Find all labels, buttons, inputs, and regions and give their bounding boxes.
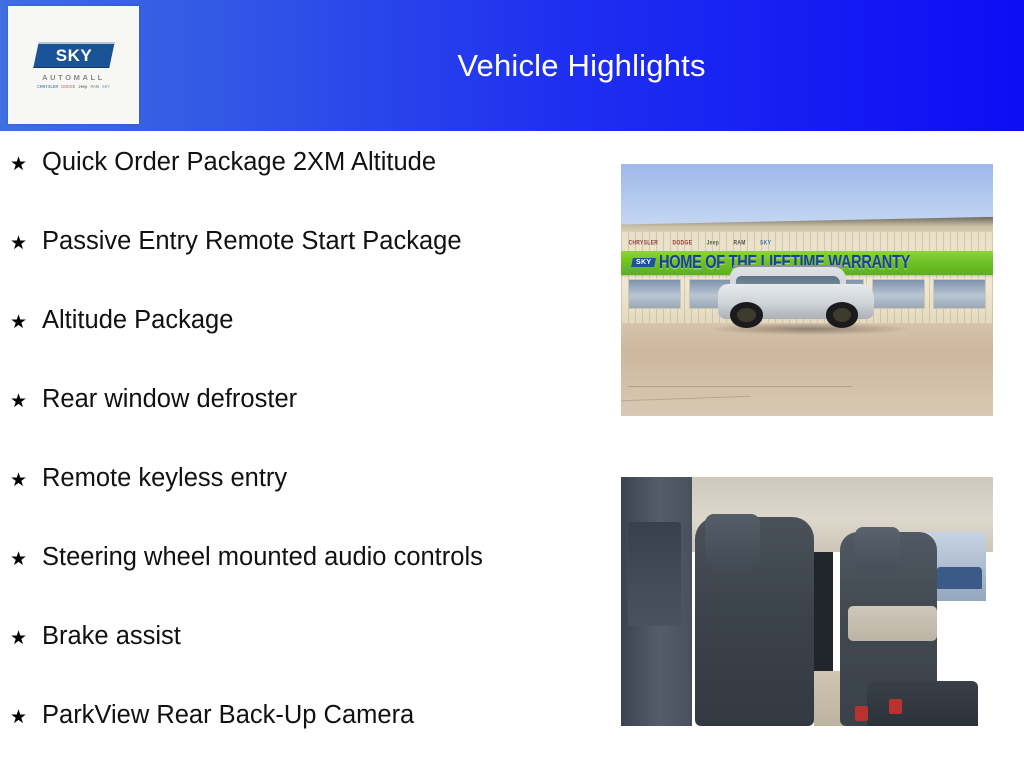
- list-item: ★ Quick Order Package 2XM Altitude: [10, 150, 610, 229]
- list-item: ★ Steering wheel mounted audio controls: [10, 545, 610, 624]
- star-icon: ★: [10, 392, 42, 411]
- seat-gap: [814, 552, 833, 681]
- window-pane: [628, 279, 681, 309]
- feature-label: Remote keyless entry: [42, 466, 287, 492]
- passenger-headrest: [855, 527, 900, 572]
- facade-brand-jeep: Jeep: [707, 239, 720, 247]
- vehicle-side-profile: [718, 267, 874, 327]
- star-icon: ★: [10, 629, 42, 648]
- window-pane: [872, 279, 925, 309]
- banner-sky-logo: SKY: [631, 258, 656, 267]
- parked-car-outside: [937, 567, 982, 589]
- star-icon: ★: [10, 708, 42, 727]
- sky-logo-mark: SKY: [33, 42, 115, 68]
- feature-label: ParkView Rear Back-Up Camera: [42, 703, 414, 729]
- feature-label: Rear window defroster: [42, 387, 297, 413]
- brand-chip-jeep: Jeep: [79, 84, 88, 89]
- list-item: ★ Altitude Package: [10, 308, 610, 387]
- feature-label: Quick Order Package 2XM Altitude: [42, 150, 436, 176]
- facade-brand-ram: RAM: [733, 239, 745, 247]
- dealer-logo[interactable]: SKY AUTOMALL CHRYSLER DODGE Jeep RAM SKY: [8, 6, 139, 124]
- list-item: ★ Passive Entry Remote Start Package: [10, 229, 610, 308]
- window-pane: [933, 279, 986, 309]
- star-icon: ★: [10, 313, 42, 332]
- seatbelt-buckle: [889, 699, 902, 714]
- feature-label: Passive Entry Remote Start Package: [42, 229, 462, 255]
- feature-label: Altitude Package: [42, 308, 233, 334]
- page-title: Vehicle Highlights: [139, 0, 1024, 131]
- parking-lot: [621, 323, 993, 416]
- star-icon: ★: [10, 550, 42, 569]
- facade-brand-logos: CHRYSLER DODGE Jeep RAM SKY: [628, 236, 985, 250]
- door-trim-panel: [628, 522, 680, 627]
- feature-label: Brake assist: [42, 624, 181, 650]
- brand-chip-dodge: DODGE: [61, 84, 75, 89]
- automall-subtitle: AUTOMALL: [42, 73, 105, 82]
- center-console: [867, 681, 979, 726]
- brand-chip-ram: RAM: [91, 84, 100, 89]
- seatbelt-buckle: [855, 706, 868, 721]
- driver-headrest: [705, 514, 761, 569]
- star-icon: ★: [10, 471, 42, 490]
- list-item: ★ Rear window defroster: [10, 387, 610, 466]
- list-item: ★ Brake assist: [10, 624, 610, 703]
- star-icon: ★: [10, 155, 42, 174]
- pavement-crack: [628, 386, 851, 387]
- feature-label: Steering wheel mounted audio controls: [42, 545, 483, 571]
- list-item: ★ Remote keyless entry: [10, 466, 610, 545]
- facade-brand-dodge: DODGE: [672, 239, 692, 247]
- brand-chip-sky: SKY: [102, 84, 110, 89]
- front-wheel: [730, 302, 763, 327]
- star-icon: ★: [10, 234, 42, 253]
- list-item: ★ ParkView Rear Back-Up Camera: [10, 703, 610, 782]
- brand-chip-chrysler: CHRYSLER: [37, 84, 58, 89]
- photo-vehicle-interior[interactable]: [621, 477, 993, 726]
- seat-bolster-highlight: [848, 606, 937, 641]
- vehicle-highlights-list: ★ Quick Order Package 2XM Altitude ★ Pas…: [10, 150, 610, 782]
- facade-brand-sky: SKY: [760, 239, 771, 247]
- sky-logo-text: SKY: [55, 45, 91, 65]
- banner-sky-logo-text: SKY: [636, 259, 651, 266]
- logo-brand-strip: CHRYSLER DODGE Jeep RAM SKY: [37, 85, 110, 89]
- photo-dealership-exterior[interactable]: CHRYSLER DODGE Jeep RAM SKY SKY HOME OF …: [621, 164, 993, 416]
- facade-brand-chrysler: CHRYSLER: [628, 239, 658, 247]
- page-header: SKY AUTOMALL CHRYSLER DODGE Jeep RAM SKY…: [0, 0, 1024, 131]
- rear-wheel: [826, 302, 859, 327]
